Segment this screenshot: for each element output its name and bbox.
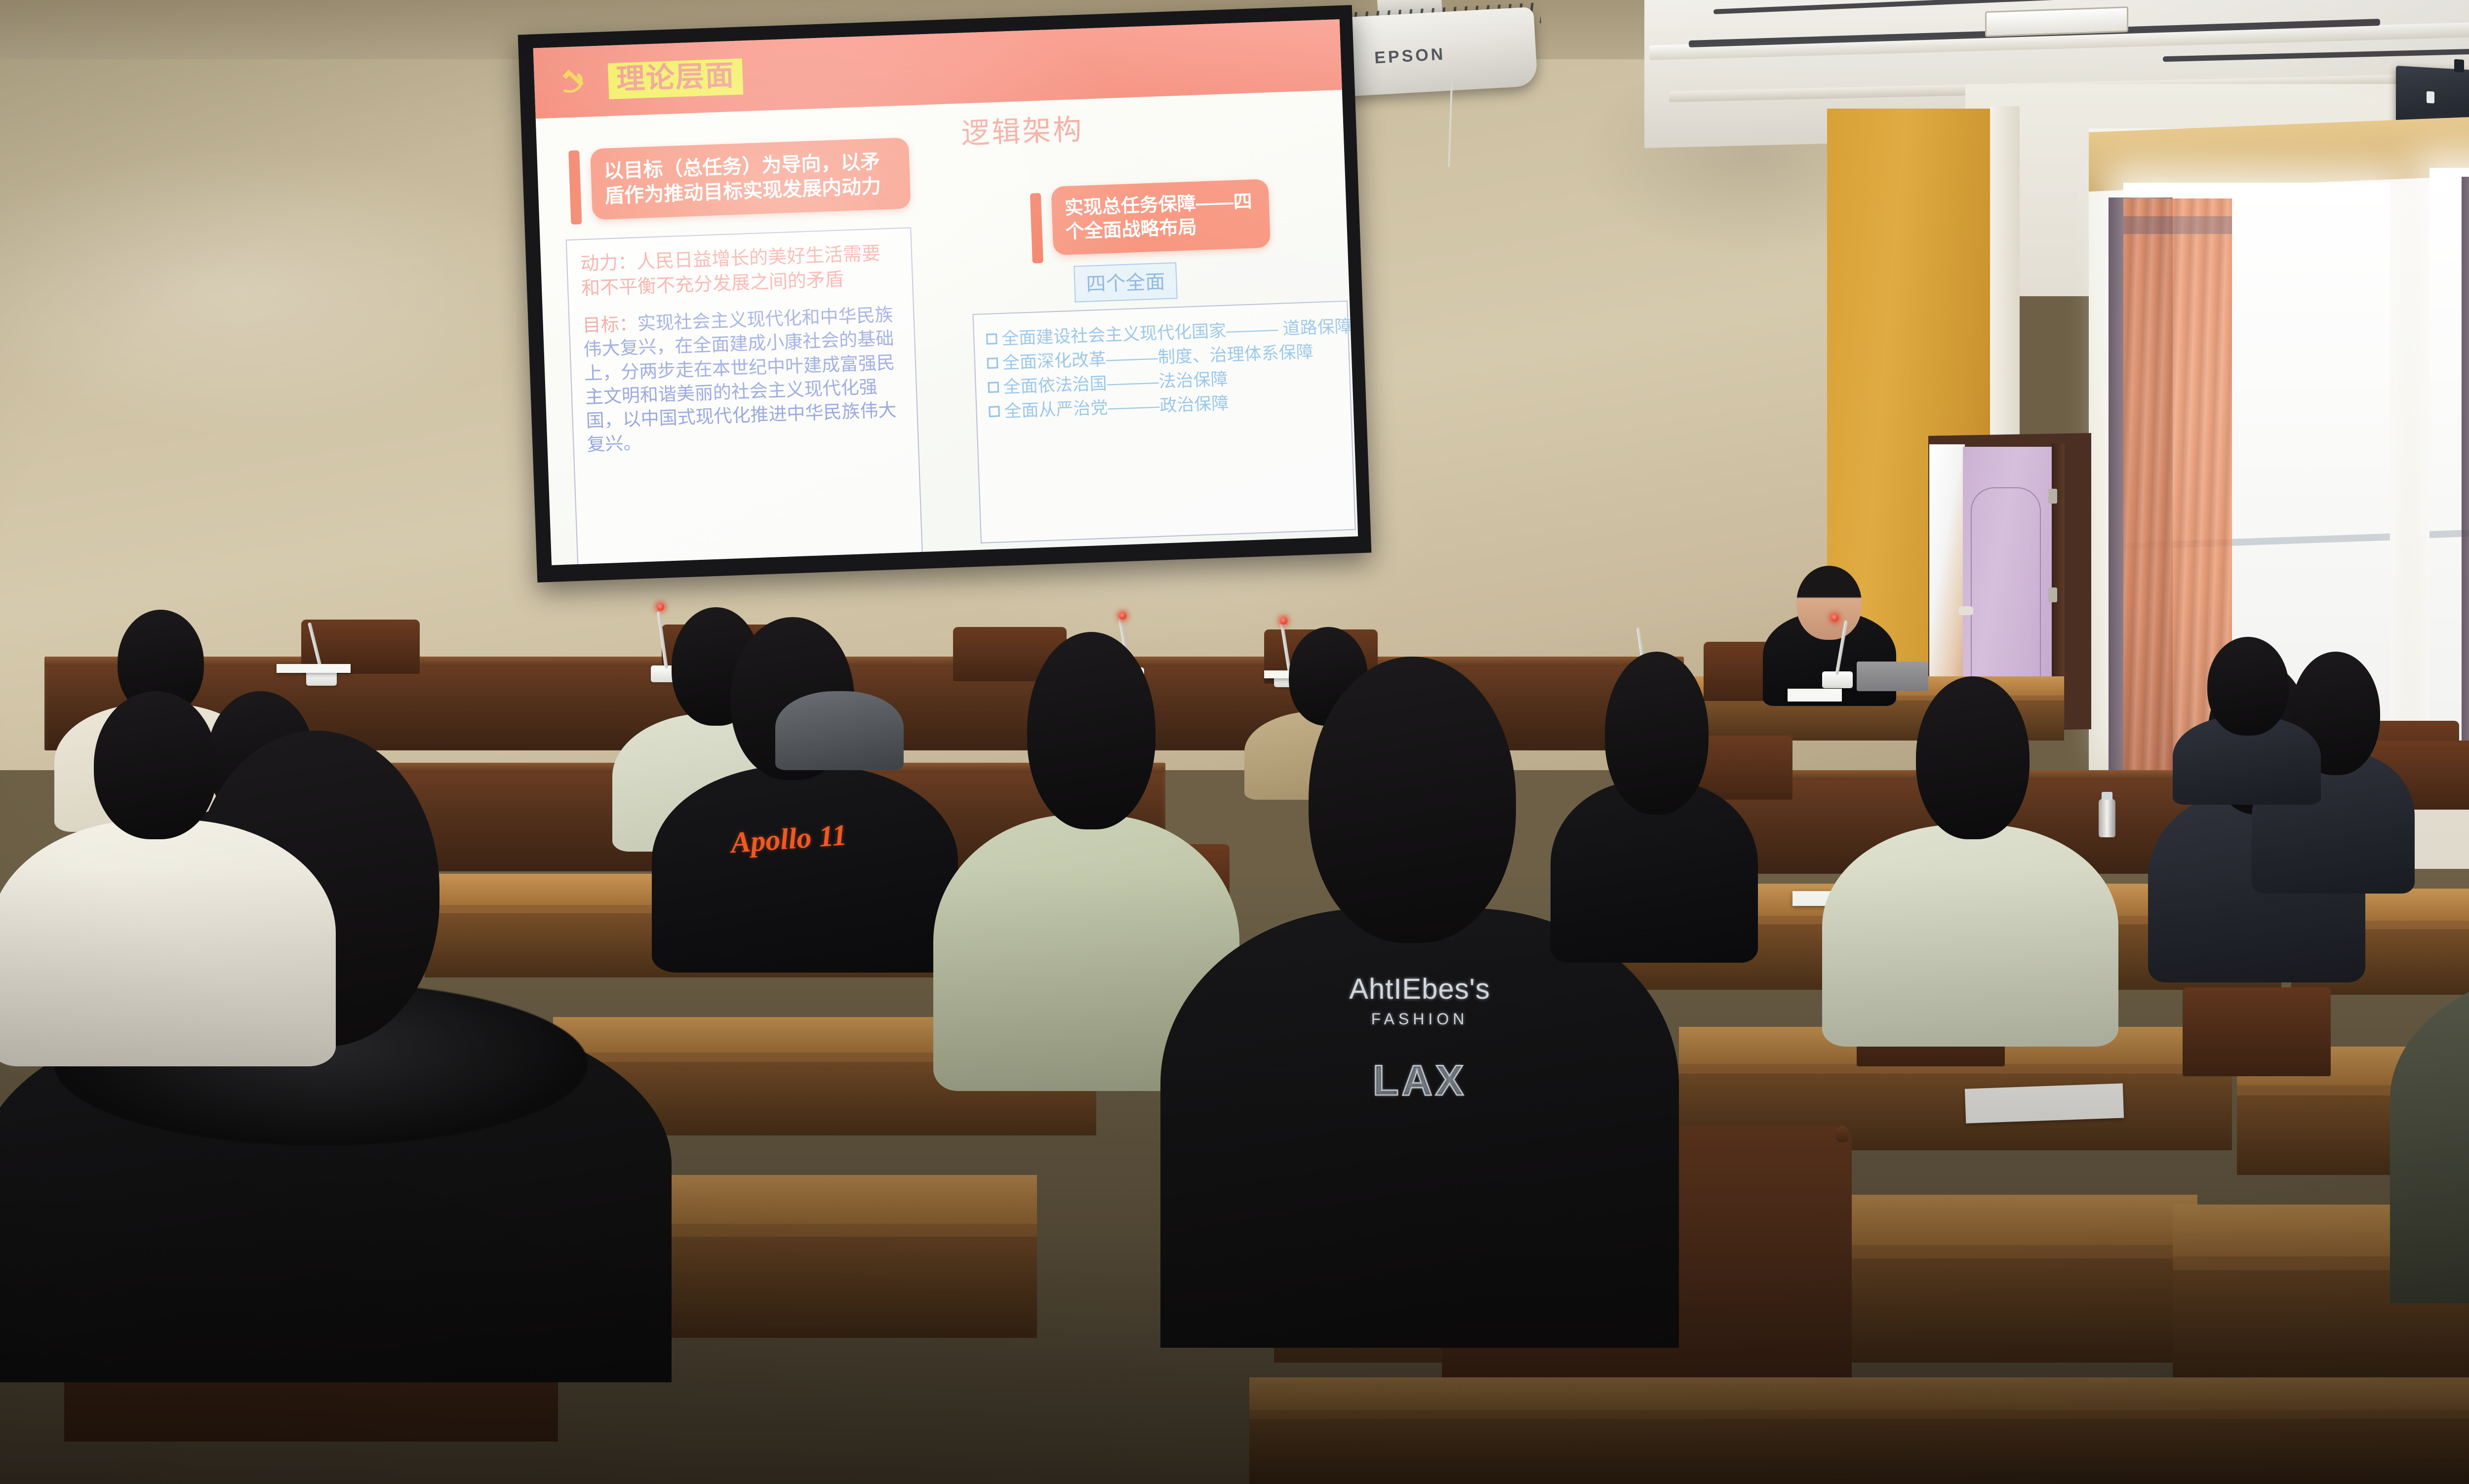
door-handle[interactable] <box>1958 606 1973 615</box>
four-comprehensives-tag: 四个全面 <box>1074 262 1178 302</box>
desk-front <box>1249 1419 2469 1484</box>
attendee-olive-foreground <box>2390 755 2469 1298</box>
checkbox-square-icon <box>986 333 997 345</box>
list-item-label: 全面从严治党———政治保障 <box>1004 394 1229 421</box>
slide-left-textbox: 动力：人民日益增长的美好生活需要和不平衡不充分发展之间的矛盾 目标：实现社会主义… <box>566 227 924 565</box>
presentation-slide: 理论层面 逻辑架构 以目标（总任务）为导向，以矛盾作为推动目标实现发展内动力 实… <box>533 19 1358 565</box>
presenter-head <box>1796 566 1862 640</box>
attendee-long-hair-center <box>1551 652 1758 958</box>
dynamics-paragraph: 动力：人民日益增长的美好生活需要和不平衡不充分发展之间的矛盾 <box>580 240 899 301</box>
door-hinge <box>2048 587 2057 602</box>
attendee-head <box>1309 657 1516 943</box>
attendee-body <box>1822 824 2118 1047</box>
dynamics-label: 动力： <box>580 252 637 274</box>
curtain-dark-center-left <box>2462 177 2469 769</box>
desk-foreground <box>1249 1377 2469 1484</box>
goal-paragraph: 目标：实现社会主义现代化和中华民族伟大复兴，在全面建成小康社会的基础上，分两步走… <box>582 303 905 457</box>
projection-screen: 理论层面 逻辑架构 以目标（总任务）为导向，以矛盾作为推动目标实现发展内动力 实… <box>518 5 1372 583</box>
desk-top <box>1249 1377 2469 1410</box>
checkbox-square-icon <box>989 406 1000 417</box>
speaker-bracket <box>2454 59 2464 73</box>
attendee-head <box>1916 676 2030 839</box>
attendee-head <box>1605 652 1709 815</box>
speaker-led <box>2427 91 2434 104</box>
pill-right-text: 实现总任务保障——四个全面战略布局 <box>1051 179 1271 255</box>
attendee-head <box>2207 637 2289 736</box>
attendee-cream-coat-left <box>0 691 336 1066</box>
attendee-right-cluster-1 <box>2173 637 2321 800</box>
curtain-band-left <box>2123 216 2232 234</box>
goal-label: 目标： <box>582 314 637 336</box>
slide-header-title: 理论层面 <box>608 58 743 99</box>
attendee-head <box>94 691 217 839</box>
row4-chair-c <box>2183 987 2331 1076</box>
attendee-cream-coat-right <box>1822 676 2118 1042</box>
attendee-grey-hood <box>775 642 904 765</box>
lax-sub-line: FASHION <box>1160 1010 1679 1028</box>
door-hinge <box>2048 489 2057 504</box>
four-comprehensives-list: 全面建设社会主义现代化国家——— 道路保障 全面深化改革———制度、治理体系保障… <box>986 315 1339 424</box>
ceiling-light-panel <box>1985 6 2128 37</box>
pill-right-accent-bar <box>1030 193 1043 264</box>
pill-left-accent-bar <box>568 150 582 225</box>
lax-main-text: LAX <box>1160 1056 1679 1105</box>
checkbox-square-icon <box>987 357 998 369</box>
attendee-body <box>0 820 336 1066</box>
checkbox-square-icon <box>988 382 999 393</box>
party-hammer-sickle-emblem <box>554 65 593 102</box>
attendee-head <box>1027 632 1155 829</box>
pill-left-text: 以目标（总任务）为导向，以矛盾作为推动目标实现发展内动力 <box>590 137 911 220</box>
doorway-light-gap <box>1929 444 1965 713</box>
chair-finial <box>1836 1126 1849 1142</box>
row1-mic-led-c <box>1119 612 1126 620</box>
row1-paper-a <box>277 664 351 673</box>
lecture-hall-photo: EPSON 理论层面 逻辑架构 以目标（总任务）为导向，以矛盾作为推动目标实现发… <box>0 0 2469 1484</box>
slide-right-textbox: 全面建设社会主义现代化国家——— 道路保障 全面深化改革———制度、治理体系保障… <box>973 301 1356 544</box>
row1-mic-led-d <box>1280 617 1287 625</box>
row4-paper-a <box>1965 1083 2124 1123</box>
attendee-body <box>2390 963 2469 1303</box>
lax-brand-line: AhtIEbes's <box>1160 973 1679 1006</box>
attendee-body <box>775 691 904 770</box>
projector-brand-label: EPSON <box>1374 45 1446 68</box>
slide-section-title: 逻辑架构 <box>960 106 1084 152</box>
attendee-body <box>652 765 958 973</box>
presenter-mic-led <box>1831 614 1838 622</box>
